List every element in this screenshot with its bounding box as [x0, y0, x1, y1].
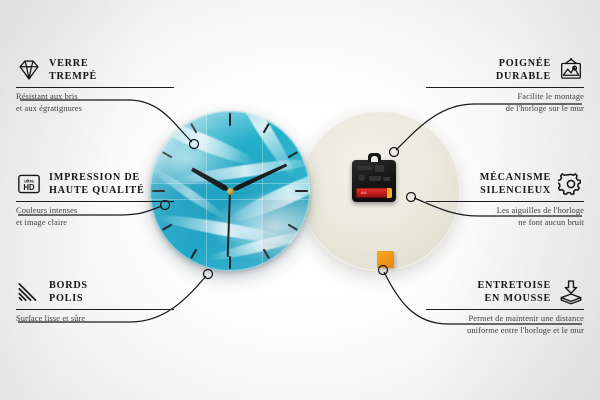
feature-poignee-durable: POIGNÉE DURABLE Facilite le montage de l… [426, 57, 584, 115]
mechanism-detail [383, 177, 390, 181]
feature-bords-polis: BORDS POLIS Surface lisse et sûre [16, 279, 174, 325]
feature-rule [16, 87, 174, 88]
feature-entretoise-en-mousse: ENTRETOISE EN MOUSSE Permet de maintenir… [426, 279, 584, 337]
feature-header: MÉCANISME SILENCIEUX [426, 171, 584, 198]
ultra-hd-icon: ultra HD [16, 171, 42, 197]
feature-description: Facilite le montage de l'horloge sur le … [426, 91, 584, 115]
mechanism-hanging-tab [368, 153, 381, 162]
feature-header: POIGNÉE DURABLE [426, 57, 584, 84]
foam-spacer-icon [558, 279, 584, 305]
feature-header: ENTRETOISE EN MOUSSE [426, 279, 584, 306]
diamond-icon [16, 57, 42, 83]
feature-verre-trempe: VERRE TREMPÉ Résistant aux bris et aux é… [16, 57, 174, 115]
mechanism-detail [357, 166, 372, 170]
clock-front-face [150, 111, 310, 271]
feature-rule [426, 201, 584, 202]
feature-title: VERRE TREMPÉ [49, 57, 97, 84]
product-infographic: AA [0, 0, 600, 400]
feature-rule [16, 201, 174, 202]
glass-reflection [150, 111, 310, 271]
feature-description: Résistant aux bris et aux égratignures [16, 91, 174, 115]
hanging-frame-icon [558, 57, 584, 83]
feature-description: Permet de maintenir une distance uniform… [426, 313, 584, 337]
foam-spacer-pad [377, 251, 394, 268]
feature-description: Les aiguilles de l'horloge ne font aucun… [426, 205, 584, 229]
feature-title: MÉCANISME SILENCIEUX [480, 171, 551, 198]
feature-title: BORDS POLIS [49, 279, 88, 306]
clock-mechanism: AA [352, 160, 396, 202]
feature-title: ENTRETOISE EN MOUSSE [477, 279, 551, 306]
mechanism-detail [358, 174, 365, 181]
battery-label: AA [361, 190, 367, 195]
gear-icon [558, 171, 584, 197]
battery-terminal [387, 188, 392, 198]
svg-text:HD: HD [23, 183, 35, 192]
feature-header: VERRE TREMPÉ [16, 57, 174, 84]
feature-rule [426, 309, 584, 310]
feature-rule [426, 87, 584, 88]
feature-header: ultra HD IMPRESSION DE HAUTE QUALITÉ [16, 171, 174, 198]
mechanism-detail [369, 176, 381, 181]
polished-edges-icon [16, 279, 42, 305]
feature-title: IMPRESSION DE HAUTE QUALITÉ [49, 171, 145, 198]
feature-header: BORDS POLIS [16, 279, 174, 306]
feature-impression-haute-qualite: ultra HD IMPRESSION DE HAUTE QUALITÉ Cou… [16, 171, 174, 229]
feature-description: Surface lisse et sûre [16, 313, 174, 325]
battery: AA [356, 188, 392, 198]
feature-mecanisme-silencieux: MÉCANISME SILENCIEUX Les aiguilles de l'… [426, 171, 584, 229]
feature-description: Couleurs intenses et image claire [16, 205, 174, 229]
feature-title: POIGNÉE DURABLE [496, 57, 551, 84]
mechanism-detail [375, 165, 384, 172]
feature-rule [16, 309, 174, 310]
